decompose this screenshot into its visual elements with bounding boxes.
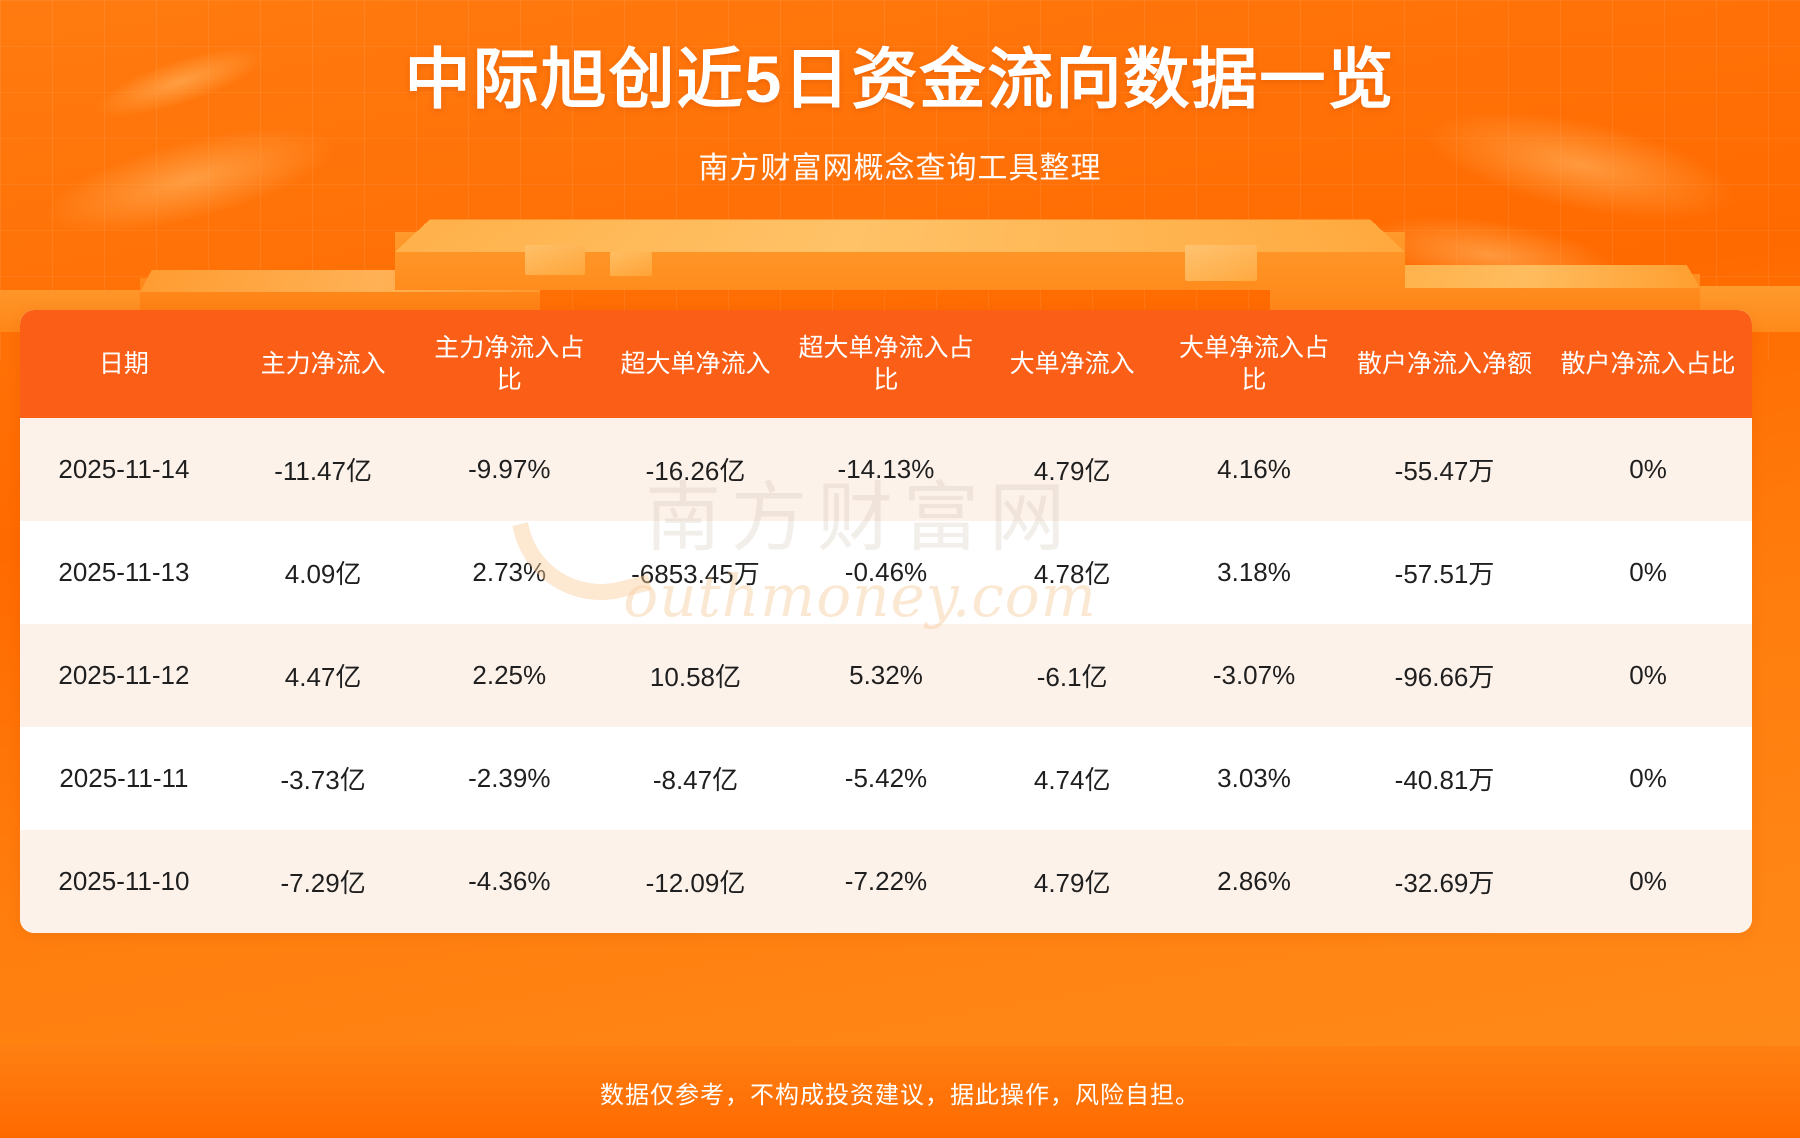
cell-retail-net-pct: 0% (1544, 727, 1752, 830)
cell-retail-net-pct: 0% (1544, 521, 1752, 624)
cell-xl-net-inflow: 10.58亿 (600, 624, 791, 727)
column-header-main-net-inflow[interactable]: 主力净流入 (228, 310, 419, 418)
cell-retail-net-pct: 0% (1544, 624, 1752, 727)
cell-retail-net-amount: -57.51万 (1345, 521, 1544, 624)
podium-cube-small (610, 252, 652, 276)
cell-date: 2025-11-12 (20, 624, 228, 727)
fund-flow-table: 日期 主力净流入 主力净流入占比 超大单净流入 超大单净流入占比 大单净流入 大… (20, 310, 1752, 933)
disclaimer-text: 数据仅参考，不构成投资建议，据此操作，风险自担。 (600, 1075, 1200, 1110)
data-table-card: 日期 主力净流入 主力净流入占比 超大单净流入 超大单净流入占比 大单净流入 大… (20, 310, 1752, 933)
cell-retail-net-amount: -32.69万 (1345, 830, 1544, 933)
cell-main-net-inflow: -7.29亿 (228, 830, 419, 933)
cell-retail-net-amount: -40.81万 (1345, 727, 1544, 830)
cell-xl-net-inflow: -6853.45万 (600, 521, 791, 624)
cell-retail-net-amount: -55.47万 (1345, 418, 1544, 521)
page-subtitle: 南方财富网概念查询工具整理 (0, 143, 1800, 187)
cell-main-net-inflow-pct: -2.39% (418, 727, 600, 830)
podium-cube-small (1185, 245, 1257, 281)
cell-date: 2025-11-11 (20, 727, 228, 830)
cell-large-net-inflow-pct: 3.03% (1163, 727, 1345, 830)
column-header-main-net-inflow-pct[interactable]: 主力净流入占比 (418, 310, 600, 418)
page-title: 中际旭创近5日资金流向数据一览 (0, 38, 1800, 121)
cell-main-net-inflow-pct: 2.73% (418, 521, 600, 624)
cell-large-net-inflow: 4.79亿 (981, 418, 1163, 521)
table-row: 2025-11-14 -11.47亿 -9.97% -16.26亿 -14.13… (20, 418, 1752, 521)
cell-xl-net-inflow-pct: -5.42% (791, 727, 982, 830)
footer-bar: 数据仅参考，不构成投资建议，据此操作，风险自担。 (0, 1046, 1800, 1138)
cell-large-net-inflow: 4.78亿 (981, 521, 1163, 624)
cell-main-net-inflow: 4.09亿 (228, 521, 419, 624)
cell-large-net-inflow: 4.79亿 (981, 830, 1163, 933)
column-header-retail-net-amount[interactable]: 散户净流入净额 (1345, 310, 1544, 418)
cell-retail-net-amount: -96.66万 (1345, 624, 1544, 727)
cell-main-net-inflow: 4.47亿 (228, 624, 419, 727)
cell-date: 2025-11-14 (20, 418, 228, 521)
cell-large-net-inflow-pct: 3.18% (1163, 521, 1345, 624)
column-header-xl-net-inflow-pct[interactable]: 超大单净流入占比 (791, 310, 982, 418)
table-row: 2025-11-13 4.09亿 2.73% -6853.45万 -0.46% … (20, 521, 1752, 624)
cell-xl-net-inflow-pct: 5.32% (791, 624, 982, 727)
cell-main-net-inflow-pct: -9.97% (418, 418, 600, 521)
cell-large-net-inflow-pct: -3.07% (1163, 624, 1345, 727)
column-header-retail-net-pct[interactable]: 散户净流入占比 (1544, 310, 1752, 418)
cell-large-net-inflow: 4.74亿 (981, 727, 1163, 830)
cell-main-net-inflow-pct: -4.36% (418, 830, 600, 933)
cell-date: 2025-11-13 (20, 521, 228, 624)
podium-cube-small (525, 245, 585, 275)
cell-date: 2025-11-10 (20, 830, 228, 933)
cell-large-net-inflow-pct: 4.16% (1163, 418, 1345, 521)
cell-main-net-inflow: -3.73亿 (228, 727, 419, 830)
column-header-date[interactable]: 日期 (20, 310, 228, 418)
cell-xl-net-inflow-pct: -0.46% (791, 521, 982, 624)
cell-xl-net-inflow: -12.09亿 (600, 830, 791, 933)
cell-xl-net-inflow: -8.47亿 (600, 727, 791, 830)
cell-xl-net-inflow: -16.26亿 (600, 418, 791, 521)
cell-large-net-inflow: -6.1亿 (981, 624, 1163, 727)
table-header-row: 日期 主力净流入 主力净流入占比 超大单净流入 超大单净流入占比 大单净流入 大… (20, 310, 1752, 418)
cell-retail-net-pct: 0% (1544, 418, 1752, 521)
cell-large-net-inflow-pct: 2.86% (1163, 830, 1345, 933)
column-header-large-net-inflow-pct[interactable]: 大单净流入占比 (1163, 310, 1345, 418)
table-row: 2025-11-11 -3.73亿 -2.39% -8.47亿 -5.42% 4… (20, 727, 1752, 830)
banner-header: 中际旭创近5日资金流向数据一览 南方财富网概念查询工具整理 (0, 0, 1800, 187)
column-header-large-net-inflow[interactable]: 大单净流入 (981, 310, 1163, 418)
column-header-xl-net-inflow[interactable]: 超大单净流入 (600, 310, 791, 418)
table-row: 2025-11-12 4.47亿 2.25% 10.58亿 5.32% -6.1… (20, 624, 1752, 727)
cell-main-net-inflow-pct: 2.25% (418, 624, 600, 727)
table-row: 2025-11-10 -7.29亿 -4.36% -12.09亿 -7.22% … (20, 830, 1752, 933)
cell-main-net-inflow: -11.47亿 (228, 418, 419, 521)
cell-xl-net-inflow-pct: -7.22% (791, 830, 982, 933)
cell-xl-net-inflow-pct: -14.13% (791, 418, 982, 521)
cell-retail-net-pct: 0% (1544, 830, 1752, 933)
